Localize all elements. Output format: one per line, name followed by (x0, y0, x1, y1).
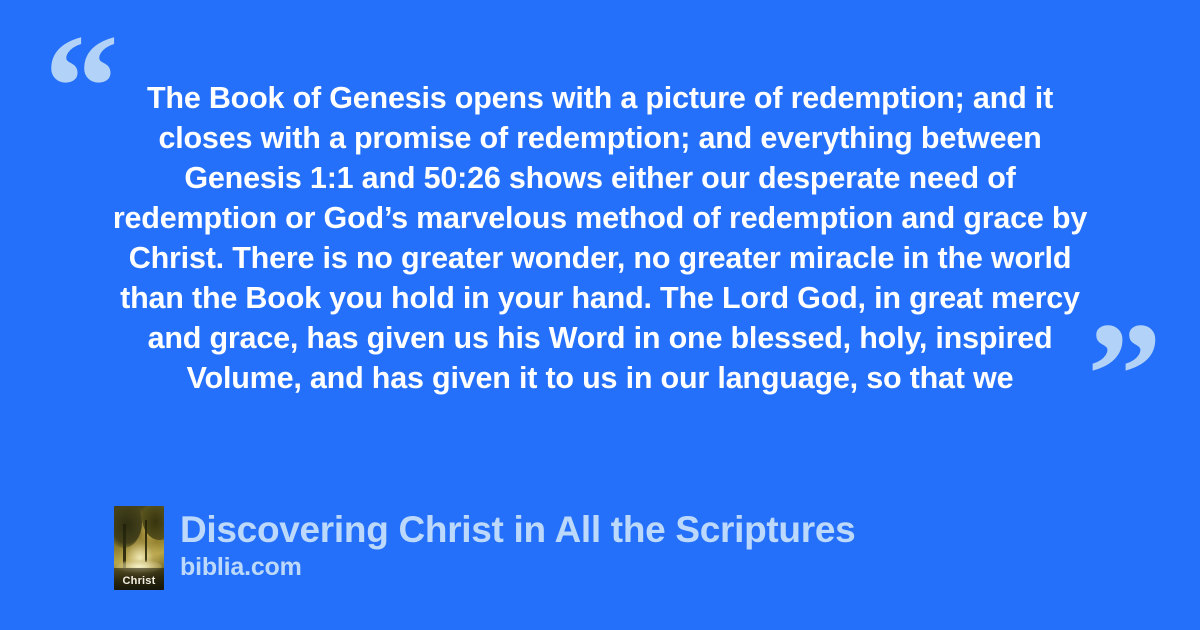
quote-text: The Book of Genesis opens with a picture… (108, 78, 1092, 398)
attribution-text-group: Discovering Christ in All the Scriptures… (180, 506, 855, 582)
open-quote-icon: “ (44, 12, 117, 162)
site-name: biblia.com (180, 552, 855, 582)
book-cover-thumbnail: Christ (114, 506, 164, 590)
cover-foliage-left (114, 506, 142, 548)
close-quote-icon: ” (1087, 300, 1160, 450)
attribution-footer: Christ Discovering Christ in All the Scr… (114, 506, 855, 590)
quote-card: “ ” The Book of Genesis opens with a pic… (0, 0, 1200, 630)
book-title: Discovering Christ in All the Scriptures (180, 507, 855, 552)
cover-tree-trunk-right (145, 520, 147, 562)
cover-caption-text: Christ (114, 575, 164, 587)
quote-area: The Book of Genesis opens with a picture… (108, 78, 1092, 398)
